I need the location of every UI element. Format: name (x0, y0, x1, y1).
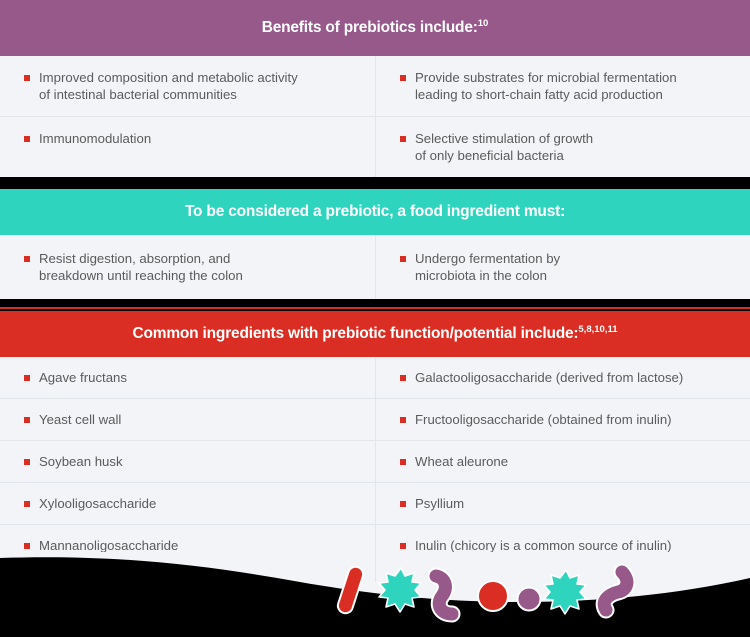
criteria-row-1-left-cell: Resist digestion, absorption, and breakd… (0, 235, 375, 299)
bullet-square-icon (24, 136, 30, 142)
benefit-item-text: Provide substrates for microbial ferment… (415, 69, 677, 103)
bullet-square-icon (24, 543, 30, 549)
ingredients-row-2-right-cell: Fructooligosaccharide (obtained from inu… (375, 398, 750, 440)
criteria-row-1: Resist digestion, absorption, and breakd… (0, 235, 750, 299)
ingredients-section-header: Common ingredients with prebiotic functi… (0, 311, 750, 357)
coccus-red (478, 581, 508, 611)
benefits-row-1-right-cell: Provide substrates for microbial ferment… (375, 56, 750, 116)
ingredients-section-body: Agave fructans Galactooligosaccharide (d… (0, 357, 750, 566)
ingredient-item-text: Psyllium (415, 495, 464, 512)
bullet-square-icon (400, 417, 406, 423)
bullet-square-icon (24, 417, 30, 423)
list-item: Yeast cell wall (0, 399, 375, 440)
list-item: Agave fructans (0, 357, 375, 398)
bullet-square-icon (400, 75, 406, 81)
bullet-square-icon (24, 459, 30, 465)
criteria-row-1-right-cell: Undergo fermentation by microbiota in th… (375, 235, 750, 299)
ingredients-row-1-left-cell: Agave fructans (0, 357, 375, 398)
chain-bacterium (436, 576, 452, 614)
ingredients-row-1-right-cell: Galactooligosaccharide (derived from lac… (375, 357, 750, 398)
ingredients-row-3: Soybean husk Wheat aleurone (0, 440, 750, 482)
ingredients-row-2: Yeast cell wall Fructooligosaccharide (o… (0, 398, 750, 440)
ingredients-row-3-left-cell: Soybean husk (0, 440, 375, 482)
bullet-square-icon (400, 501, 406, 507)
ingredient-item-text: Galactooligosaccharide (derived from lac… (415, 369, 683, 386)
benefits-header-text: Benefits of prebiotics include: (262, 19, 478, 36)
criteria-item-text: Undergo fermentation by microbiota in th… (415, 250, 560, 284)
ingredient-item-text: Soybean husk (39, 453, 123, 470)
benefits-row-2-left-cell: Immunomodulation (0, 116, 375, 177)
ingredients-row-1: Agave fructans Galactooligosaccharide (d… (0, 357, 750, 398)
list-item: Fructooligosaccharide (obtained from inu… (376, 399, 750, 440)
bullet-square-icon (400, 136, 406, 142)
list-item: Resist digestion, absorption, and breakd… (0, 235, 375, 299)
benefits-section-body: Improved composition and metabolic activ… (0, 56, 750, 177)
benefits-header-superscript: 10 (478, 18, 489, 29)
ingredients-row-4-right-cell: Psyllium (375, 482, 750, 524)
list-item: Psyllium (376, 483, 750, 524)
list-item: Undergo fermentation by microbiota in th… (376, 235, 750, 299)
ingredients-row-3-right-cell: Wheat aleurone (375, 440, 750, 482)
section-separator-2 (0, 299, 750, 307)
benefits-row-2: Immunomodulation Selective stimulation o… (0, 116, 750, 177)
bullet-square-icon (400, 543, 406, 549)
ingredient-item-text: Xylooligosaccharide (39, 495, 156, 512)
ingredients-header-text: Common ingredients with prebiotic functi… (132, 325, 578, 342)
benefits-row-2-right-cell: Selective stimulation of growth of only … (375, 116, 750, 177)
section-separator-1 (0, 177, 750, 189)
bullet-square-icon (24, 75, 30, 81)
list-item: Galactooligosaccharide (derived from lac… (376, 357, 750, 398)
benefits-row-1: Improved composition and metabolic activ… (0, 56, 750, 116)
bullet-square-icon (400, 256, 406, 262)
benefit-item-text: Selective stimulation of growth of only … (415, 130, 593, 164)
bullet-square-icon (24, 501, 30, 507)
list-item: Improved composition and metabolic activ… (0, 56, 375, 116)
bottom-decoration (0, 552, 750, 637)
ingredients-row-4: Xylooligosaccharide Psyllium (0, 482, 750, 524)
bullet-square-icon (400, 459, 406, 465)
ingredient-item-text: Fructooligosaccharide (obtained from inu… (415, 411, 672, 428)
ingredients-row-2-left-cell: Yeast cell wall (0, 398, 375, 440)
list-item: Xylooligosaccharide (0, 483, 375, 524)
bullet-square-icon (24, 256, 30, 262)
criteria-section-header: To be considered a prebiotic, a food ing… (0, 189, 750, 235)
ingredients-header-superscript: 5,8,10,11 (578, 324, 617, 335)
benefit-item-text: Improved composition and metabolic activ… (39, 69, 298, 103)
list-item: Selective stimulation of growth of only … (376, 117, 750, 177)
ingredients-row-4-left-cell: Xylooligosaccharide (0, 482, 375, 524)
bullet-square-icon (400, 375, 406, 381)
list-item: Immunomodulation (0, 117, 375, 172)
ingredient-item-text: Agave fructans (39, 369, 127, 386)
coccus-purple (518, 588, 541, 611)
list-item: Wheat aleurone (376, 441, 750, 482)
prebiotics-infographic: Benefits of prebiotics include:10 Improv… (0, 0, 750, 637)
ingredient-item-text: Yeast cell wall (39, 411, 121, 428)
list-item: Soybean husk (0, 441, 375, 482)
benefits-row-1-left-cell: Improved composition and metabolic activ… (0, 56, 375, 116)
criteria-item-text: Resist digestion, absorption, and breakd… (39, 250, 243, 284)
benefit-item-text: Immunomodulation (39, 130, 151, 147)
criteria-header-text: To be considered a prebiotic, a food ing… (185, 203, 565, 220)
list-item: Provide substrates for microbial ferment… (376, 56, 750, 116)
bullet-square-icon (24, 375, 30, 381)
criteria-section-body: Resist digestion, absorption, and breakd… (0, 235, 750, 299)
ingredient-item-text: Wheat aleurone (415, 453, 508, 470)
benefits-section-header: Benefits of prebiotics include:10 (0, 0, 750, 56)
